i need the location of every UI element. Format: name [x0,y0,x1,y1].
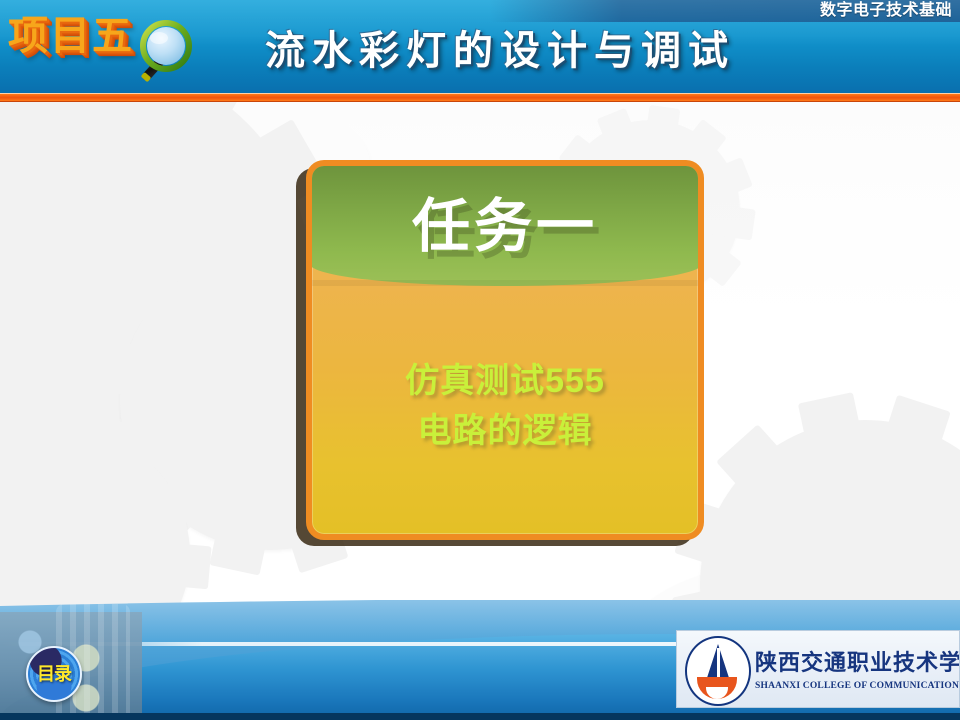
magnifier-icon [130,16,204,90]
task-description-line-1: 仿真测试555 [312,356,698,406]
table-of-contents-button[interactable]: 目录 [26,646,82,702]
task-card: 任务一 仿真测试555 电路的逻辑 [306,160,704,540]
task-description-line-2: 电路的逻辑 [312,406,698,456]
project-badge: 项目五 [8,8,134,64]
course-title: 数字电子技术基础 [820,1,952,21]
footer-bottom-edge [0,713,960,720]
college-logo: 陕西交通职业技术学院 SHAANXI COLLEGE OF COMMUNICAT… [676,630,960,708]
college-emblem-icon [685,636,751,706]
college-name-en: SHAANXI COLLEGE OF COMMUNICATION TECHNOL… [755,681,960,691]
table-of-contents-label: 目录 [28,648,80,700]
task-description: 仿真测试555 电路的逻辑 [312,356,698,456]
presentation-slide: 数字电子技术基础 项目五 [0,0,960,720]
task-heading: 任务一 [312,190,698,264]
college-name-cn: 陕西交通职业技术学院 [755,645,960,677]
header-orange-divider [0,93,960,102]
